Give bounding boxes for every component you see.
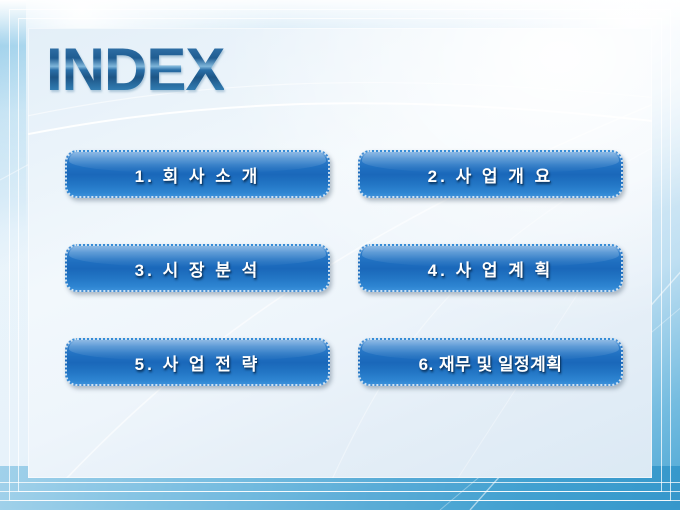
index-button-2[interactable]: 2. 사 업 개 요 — [358, 150, 623, 198]
index-button-grid: 1. 회 사 소 개 2. 사 업 개 요 3. 시 장 분 석 4. 사 업 … — [65, 150, 623, 386]
index-button-2-label: 2. 사 업 개 요 — [428, 162, 554, 187]
index-row-3: 5. 사 업 전 략 6. 재무 및 일정계획 — [65, 338, 623, 386]
border-hairline-1 — [0, 482, 680, 483]
presentation-slide: INDEX 1. 회 사 소 개 2. 사 업 개 요 3. 시 장 분 석 4… — [0, 0, 680, 510]
index-button-6[interactable]: 6. 재무 및 일정계획 — [358, 338, 623, 386]
slide-border-left-streak — [0, 0, 26, 510]
index-row-1: 1. 회 사 소 개 2. 사 업 개 요 — [65, 150, 623, 198]
index-button-3-label: 3. 시 장 분 석 — [135, 256, 261, 281]
border-hairline-3 — [0, 500, 680, 501]
border-hairline-2 — [0, 491, 680, 492]
index-button-6-label: 6. 재무 및 일정계획 — [419, 350, 563, 375]
index-button-5-label: 5. 사 업 전 략 — [135, 350, 261, 375]
index-button-1[interactable]: 1. 회 사 소 개 — [65, 150, 330, 198]
index-button-3[interactable]: 3. 시 장 분 석 — [65, 244, 330, 292]
index-button-1-label: 1. 회 사 소 개 — [135, 162, 261, 187]
index-button-4[interactable]: 4. 사 업 계 획 — [358, 244, 623, 292]
index-button-5[interactable]: 5. 사 업 전 략 — [65, 338, 330, 386]
index-row-2: 3. 시 장 분 석 4. 사 업 계 획 — [65, 244, 623, 292]
index-button-4-label: 4. 사 업 계 획 — [428, 256, 554, 281]
slide-content-panel: INDEX 1. 회 사 소 개 2. 사 업 개 요 3. 시 장 분 석 4… — [28, 28, 652, 478]
page-title: INDEX — [46, 40, 224, 100]
